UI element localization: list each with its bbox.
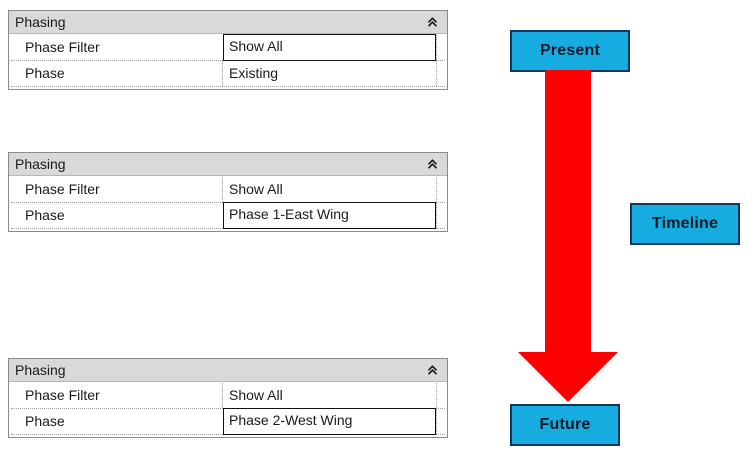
property-label: Phase xyxy=(11,409,223,434)
value-cell-tail xyxy=(436,203,445,228)
phase-value[interactable]: Phase 1-East Wing xyxy=(223,202,436,229)
property-value-cell[interactable]: Show All xyxy=(223,383,445,408)
panel-title: Phasing xyxy=(9,359,66,381)
panel-rows: Phase Filter Show All Phase Phase 1-East… xyxy=(9,176,447,231)
property-value-cell[interactable]: Show All xyxy=(223,35,445,60)
property-row[interactable]: Phase Filter Show All xyxy=(11,35,445,61)
present-label: Present xyxy=(540,42,600,60)
phasing-properties-panel: Phasing Phase Filter Show All Phase Exis… xyxy=(8,10,448,90)
property-row[interactable]: Phase Phase 2-West Wing xyxy=(11,409,445,435)
property-row[interactable]: Phase Filter Show All xyxy=(11,177,445,203)
panel-header: Phasing xyxy=(9,11,447,34)
panel-rows: Phase Filter Show All Phase Existing xyxy=(9,34,447,89)
future-box: Future xyxy=(510,404,620,446)
phase-filter-value[interactable]: Show All xyxy=(223,177,436,202)
phasing-properties-panel: Phasing Phase Filter Show All Phase Phas… xyxy=(8,358,448,438)
phase-filter-value[interactable]: Show All xyxy=(223,34,436,61)
property-label: Phase Filter xyxy=(11,35,223,60)
timeline-box: Timeline xyxy=(630,203,740,245)
property-value-cell[interactable]: Phase 1-East Wing xyxy=(223,203,445,228)
property-value-cell[interactable]: Phase 2-West Wing xyxy=(223,409,445,434)
double-chevron-up-icon[interactable] xyxy=(426,153,439,175)
property-value-cell[interactable]: Show All xyxy=(223,177,445,202)
down-arrow-icon xyxy=(518,70,618,402)
panel-rows: Phase Filter Show All Phase Phase 2-West… xyxy=(9,382,447,437)
double-chevron-up-icon[interactable] xyxy=(426,359,439,381)
present-box: Present xyxy=(510,30,630,72)
timeline-label: Timeline xyxy=(652,215,718,233)
property-label: Phase Filter xyxy=(11,383,223,408)
phase-filter-value[interactable]: Show All xyxy=(223,383,436,408)
value-cell-tail xyxy=(436,409,445,434)
phase-value[interactable]: Phase 2-West Wing xyxy=(223,408,436,435)
property-label: Phase Filter xyxy=(11,177,223,202)
panel-header: Phasing xyxy=(9,359,447,382)
property-label: Phase xyxy=(11,61,223,86)
panel-title: Phasing xyxy=(9,153,66,175)
value-cell-tail xyxy=(436,383,445,408)
value-cell-tail xyxy=(436,61,445,86)
property-row[interactable]: Phase Phase 1-East Wing xyxy=(11,203,445,229)
property-row[interactable]: Phase Filter Show All xyxy=(11,383,445,409)
panel-header: Phasing xyxy=(9,153,447,176)
property-row[interactable]: Phase Existing xyxy=(11,61,445,87)
phasing-properties-panel: Phasing Phase Filter Show All Phase Phas… xyxy=(8,152,448,232)
value-cell-tail xyxy=(436,35,445,60)
property-value-cell[interactable]: Existing xyxy=(223,61,445,86)
future-label: Future xyxy=(540,416,591,434)
value-cell-tail xyxy=(436,177,445,202)
double-chevron-up-icon[interactable] xyxy=(426,11,439,33)
panel-title: Phasing xyxy=(9,11,66,33)
phase-value[interactable]: Existing xyxy=(223,61,436,86)
property-label: Phase xyxy=(11,203,223,228)
